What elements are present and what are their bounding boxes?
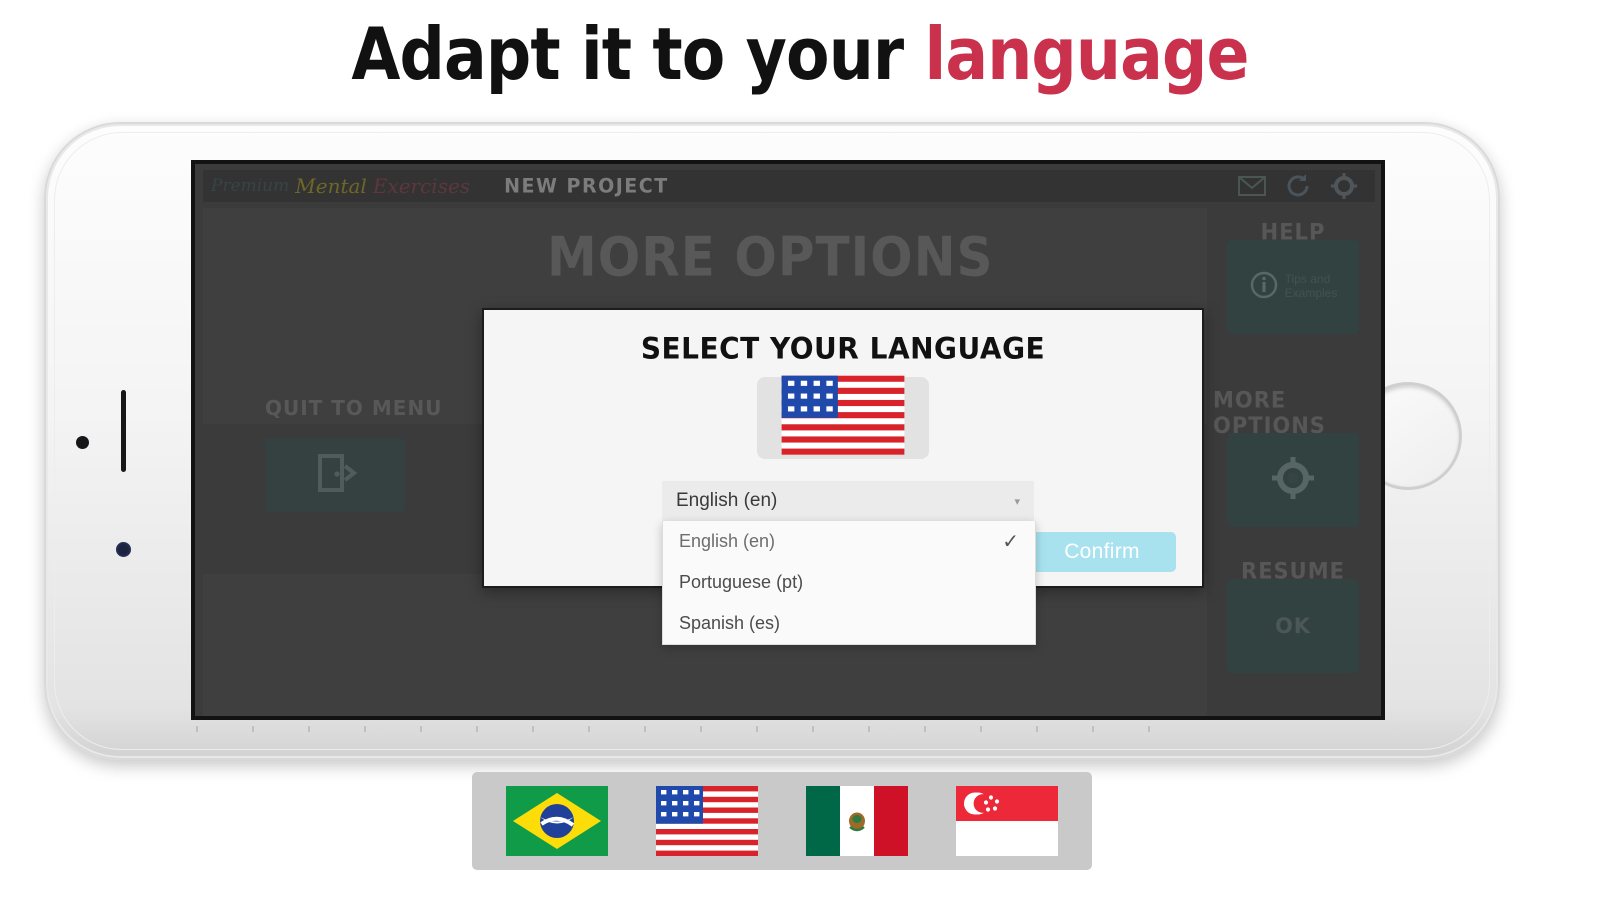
- flag-usa-icon[interactable]: [656, 786, 758, 856]
- help-tips-label-wrap: Tips and Examples: [1285, 273, 1338, 301]
- check-icon: ✓: [1002, 529, 1019, 554]
- sidebar-heading-more-options: MORE OPTIONS: [1213, 388, 1373, 439]
- dialog-title: SELECT YOUR LANGUAGE: [484, 331, 1202, 366]
- gear-icon[interactable]: [1329, 171, 1359, 201]
- headline-prefix: Adapt it to your: [351, 12, 903, 96]
- language-options-list: English (en) ✓ Portuguese (pt) Spanish (…: [662, 521, 1036, 645]
- flag-singapore-icon[interactable]: [956, 786, 1058, 856]
- help-tips-label-line2: Examples: [1285, 286, 1338, 300]
- more-options-button[interactable]: [1227, 433, 1359, 527]
- quit-to-menu-button[interactable]: [265, 438, 405, 512]
- right-sidebar: HELP Tips and Examples: [1213, 208, 1373, 716]
- info-circle-icon: [1249, 270, 1279, 304]
- language-option-label: Portuguese (pt): [679, 572, 803, 593]
- quit-to-menu-label: QUIT TO MENU: [265, 396, 442, 420]
- resume-ok-button[interactable]: OK: [1227, 579, 1359, 673]
- phone-mockup: Premium Mental Exercises NEW PROJECT: [44, 122, 1500, 760]
- logo-word-2: Mental: [295, 174, 367, 198]
- project-title: NEW PROJECT: [504, 174, 669, 197]
- language-dialog: SELECT YOUR LANGUAGE: [482, 308, 1204, 588]
- logo-word-3: Exercises: [373, 174, 470, 198]
- language-option-pt[interactable]: Portuguese (pt): [663, 562, 1035, 603]
- front-camera-icon: [116, 542, 131, 557]
- page-headline: Adapt it to your language: [96, 12, 1504, 96]
- section-title: MORE OPTIONS: [547, 226, 994, 289]
- supported-languages-flag-strip: [472, 772, 1092, 870]
- sidebar-block-more-options: MORE OPTIONS: [1213, 377, 1373, 546]
- sidebar-block-help: HELP Tips and Examples: [1213, 208, 1373, 377]
- selected-language-flag: [757, 377, 929, 459]
- chevron-down-icon: ▾: [1014, 495, 1020, 508]
- language-option-es[interactable]: Spanish (es): [663, 603, 1035, 644]
- app-top-bar: Premium Mental Exercises NEW PROJECT: [203, 170, 1375, 202]
- phone-screen: Premium Mental Exercises NEW PROJECT: [191, 160, 1385, 720]
- language-select-value: English (en): [676, 490, 777, 512]
- flag-mexico-icon[interactable]: [806, 786, 908, 856]
- logo-word-1: Premium: [211, 176, 289, 196]
- flag-us-icon: [782, 375, 905, 461]
- confirm-button[interactable]: Confirm: [1028, 532, 1176, 572]
- help-tips-button[interactable]: Tips and Examples: [1227, 240, 1359, 334]
- earpiece-speaker-icon: [121, 390, 126, 472]
- language-select[interactable]: English (en) ▾: [662, 481, 1034, 521]
- sidebar-block-resume: RESUME OK: [1213, 547, 1373, 716]
- language-option-label: Spanish (es): [679, 613, 780, 634]
- gear-icon: [1270, 455, 1316, 505]
- resume-ok-label: OK: [1275, 614, 1311, 638]
- headline-accent: language: [924, 12, 1248, 96]
- exit-door-icon: [312, 450, 358, 501]
- app-logo[interactable]: Premium Mental Exercises: [203, 174, 470, 198]
- proximity-sensor-icon: [76, 436, 89, 449]
- flag-brazil-icon[interactable]: [506, 786, 608, 856]
- language-option-label: English (en): [679, 531, 775, 552]
- language-option-en[interactable]: English (en) ✓: [663, 521, 1035, 562]
- mail-icon[interactable]: [1237, 171, 1267, 201]
- speaker-grill: [196, 726, 1176, 732]
- help-tips-label-line1: Tips and: [1285, 272, 1331, 286]
- refresh-icon[interactable]: [1283, 171, 1313, 201]
